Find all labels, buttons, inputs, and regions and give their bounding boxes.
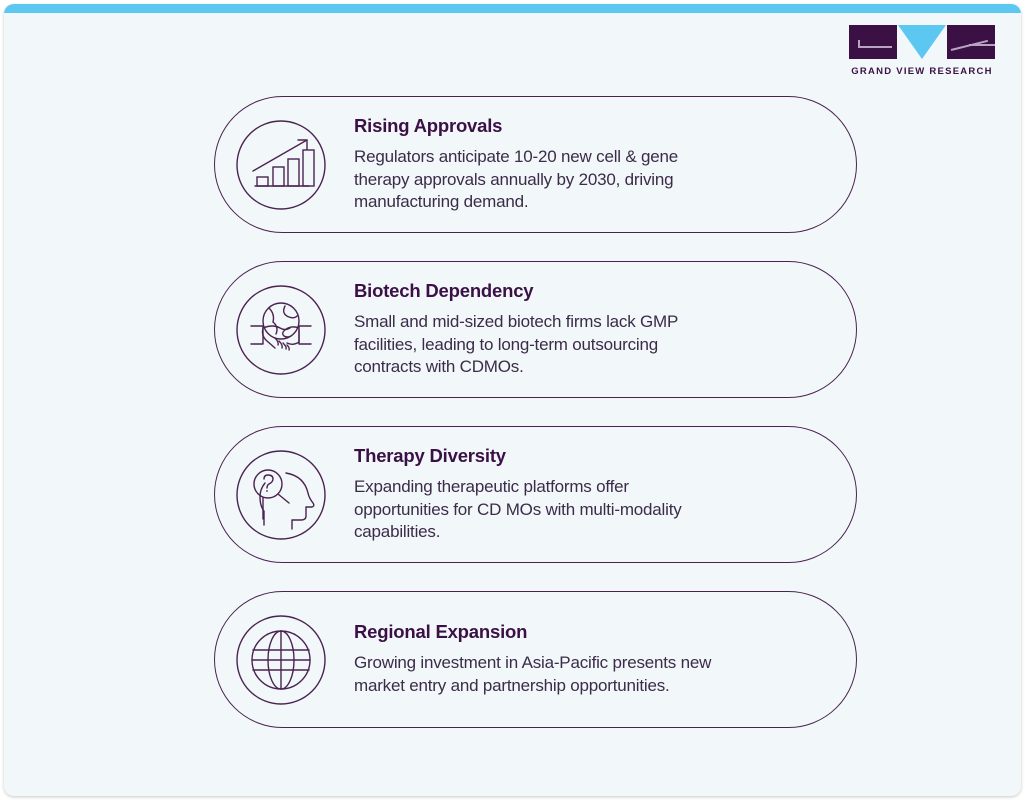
- infographic-page: GRAND VIEW RESEARCH Rising Approvals Re: [4, 4, 1021, 796]
- card-title: Therapy Diversity: [354, 445, 826, 467]
- logo-marks: [849, 25, 995, 59]
- card-rising-approvals[interactable]: Rising Approvals Regulators anticipate 1…: [214, 96, 857, 233]
- globe-meridians-icon: [229, 608, 333, 712]
- card-title: Regional Expansion: [354, 621, 826, 643]
- card-regional-expansion[interactable]: Regional Expansion Growing investment in…: [214, 591, 857, 728]
- card-title: Rising Approvals: [354, 115, 826, 137]
- logo-block-r: [947, 25, 995, 59]
- brand-logo: GRAND VIEW RESEARCH: [849, 25, 995, 77]
- handshake-globe-icon: [229, 278, 333, 382]
- card-description: Small and mid-sized biotech firms lack G…: [354, 311, 726, 379]
- card-therapy-diversity[interactable]: Therapy Diversity Expanding therapeutic …: [214, 426, 857, 563]
- logo-triangle-v-icon: [898, 25, 946, 59]
- card-list: Rising Approvals Regulators anticipate 1…: [214, 96, 857, 756]
- bar-chart-growth-icon: [229, 113, 333, 217]
- card-body: Regional Expansion Growing investment in…: [333, 621, 856, 697]
- card-description: Expanding therapeutic platforms offer op…: [354, 476, 726, 544]
- card-body: Rising Approvals Regulators anticipate 1…: [333, 115, 856, 214]
- top-accent-bar: [4, 4, 1021, 13]
- head-question-magnifier-icon: [229, 443, 333, 547]
- card-biotech-dependency[interactable]: Biotech Dependency Small and mid-sized b…: [214, 261, 857, 398]
- card-description: Regulators anticipate 10-20 new cell & g…: [354, 146, 726, 214]
- logo-block-g: [849, 25, 897, 59]
- logo-wordmark: GRAND VIEW RESEARCH: [849, 66, 995, 77]
- card-title: Biotech Dependency: [354, 280, 826, 302]
- card-body: Therapy Diversity Expanding therapeutic …: [333, 445, 856, 544]
- card-body: Biotech Dependency Small and mid-sized b…: [333, 280, 856, 379]
- card-description: Growing investment in Asia-Pacific prese…: [354, 652, 726, 697]
